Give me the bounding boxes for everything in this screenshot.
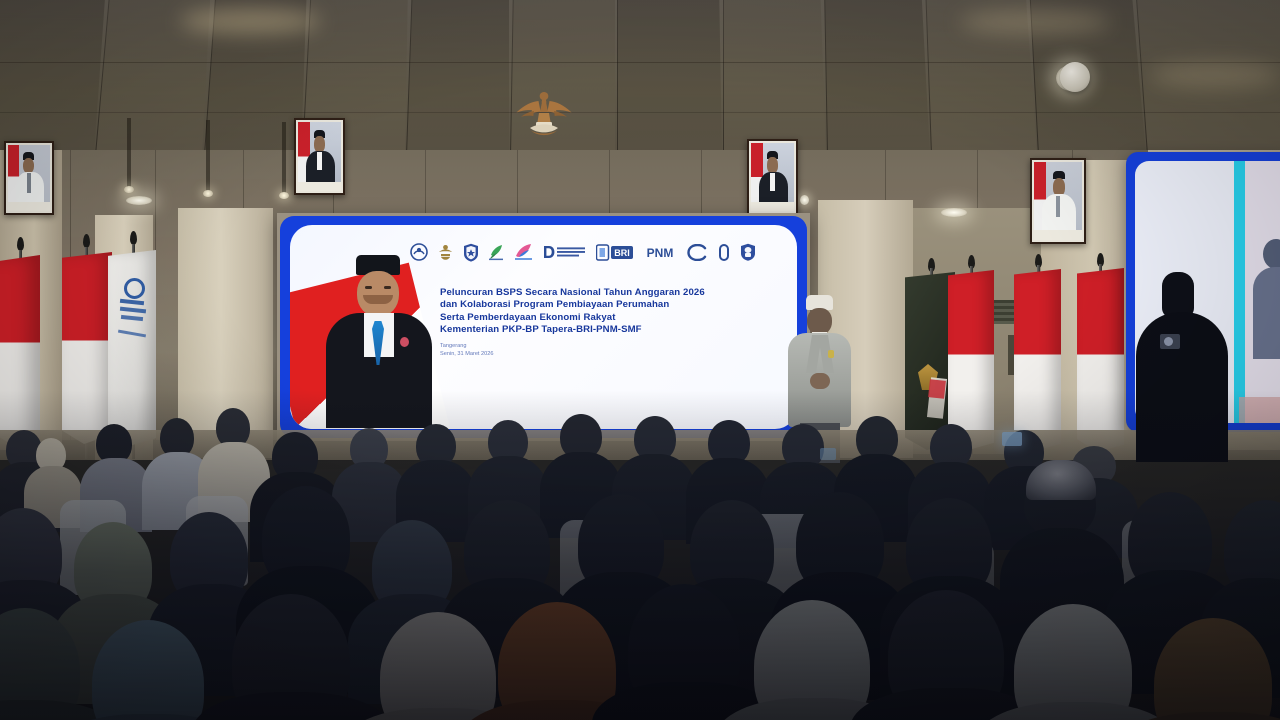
garuda-pancasila-icon: [512, 86, 576, 142]
logo-bank-icon: [717, 244, 731, 261]
secondary-screen-base-strip: [1239, 397, 1280, 423]
portrait-official-left-edge: [4, 141, 54, 215]
screen-slide-content: BRI PNM Pelu: [290, 225, 797, 429]
logo-bp-tapera-icon: [514, 243, 534, 261]
svg-text:BRI: BRI: [614, 248, 630, 258]
slide-subtext: Tangerang Senin, 31 Maret 2026: [440, 343, 640, 358]
logo-pnm-icon: PNM: [643, 245, 677, 260]
videographer-body: [1136, 312, 1228, 462]
slide-subtext-city: Tangerang: [440, 343, 640, 351]
portrait-vice-president: [747, 139, 798, 215]
auditorium-photo-scene: BRI PNM Pelu: [0, 0, 1280, 720]
flag-finial-icon: [130, 231, 137, 245]
wall-spotlight: [127, 118, 131, 188]
slide-heading-line-2: dan Kolaborasi Program Pembiayaan Peruma…: [440, 299, 770, 311]
speaker-hands: [810, 373, 830, 389]
flag-finial-icon: [83, 234, 90, 248]
logo-badan-daerah-icon: [463, 243, 479, 262]
logo-danantara-icon: [543, 244, 587, 260]
ceiling-speaker-dome: [1060, 62, 1090, 92]
videographer-silhouette: [1128, 272, 1240, 462]
flag-indonesia: [1077, 268, 1124, 452]
camera-lens-icon: [1164, 337, 1173, 346]
svg-text:PNM: PNM: [647, 246, 674, 260]
portrait-president: [294, 118, 345, 195]
flag-finial-icon: [17, 237, 24, 251]
slide-subtext-date: Senin, 31 Maret 2026: [440, 351, 640, 359]
flag-indonesia: [948, 270, 994, 450]
logo-smf-icon: [686, 244, 708, 261]
logo-pemda-icon: [740, 243, 756, 261]
speaker-head: [807, 308, 832, 335]
logo-program-icon: [488, 243, 505, 261]
flag-indonesia: [62, 252, 112, 444]
ceiling-downlight: [126, 196, 152, 205]
led-presentation-screen[interactable]: BRI PNM Pelu: [277, 213, 810, 441]
slide-heading-line-3: Serta Pemberdayaan Ekonomi Rakyat: [440, 312, 770, 324]
logo-bri-icon: BRI: [596, 244, 634, 261]
speaker-badge-icon: [828, 350, 834, 358]
screen-blue-border: BRI PNM Pelu: [280, 216, 807, 438]
flag-institution: [108, 250, 156, 446]
flag-indonesia: [0, 255, 40, 445]
logo-garuda-institution-icon: [437, 243, 454, 261]
secondary-screen-figure: [1253, 239, 1280, 359]
phone-screen-glow: [820, 448, 836, 460]
slide-heading: Peluncuran BSPS Secara Nasional Tahun An…: [440, 287, 770, 336]
ceiling-downlight: [941, 208, 967, 217]
wall-spotlight-knob: [800, 195, 809, 205]
portrait-official-right: [1030, 158, 1086, 244]
slide-president-figure: [316, 251, 442, 426]
flag-indonesia: [1014, 269, 1061, 451]
wall-spotlight: [206, 120, 210, 192]
logo-kementerian-pkp-icon: [410, 243, 428, 261]
slide-heading-line-1: Peluncuran BSPS Secara Nasional Tahun An…: [440, 287, 770, 299]
slide-logo-row: BRI PNM: [410, 241, 756, 263]
wall-spotlight: [282, 122, 286, 194]
phone-screen-glow: [1002, 432, 1022, 446]
slide-heading-line-4: Kementerian PKP-BP Tapera-BRI-PNM-SMF: [440, 324, 770, 336]
